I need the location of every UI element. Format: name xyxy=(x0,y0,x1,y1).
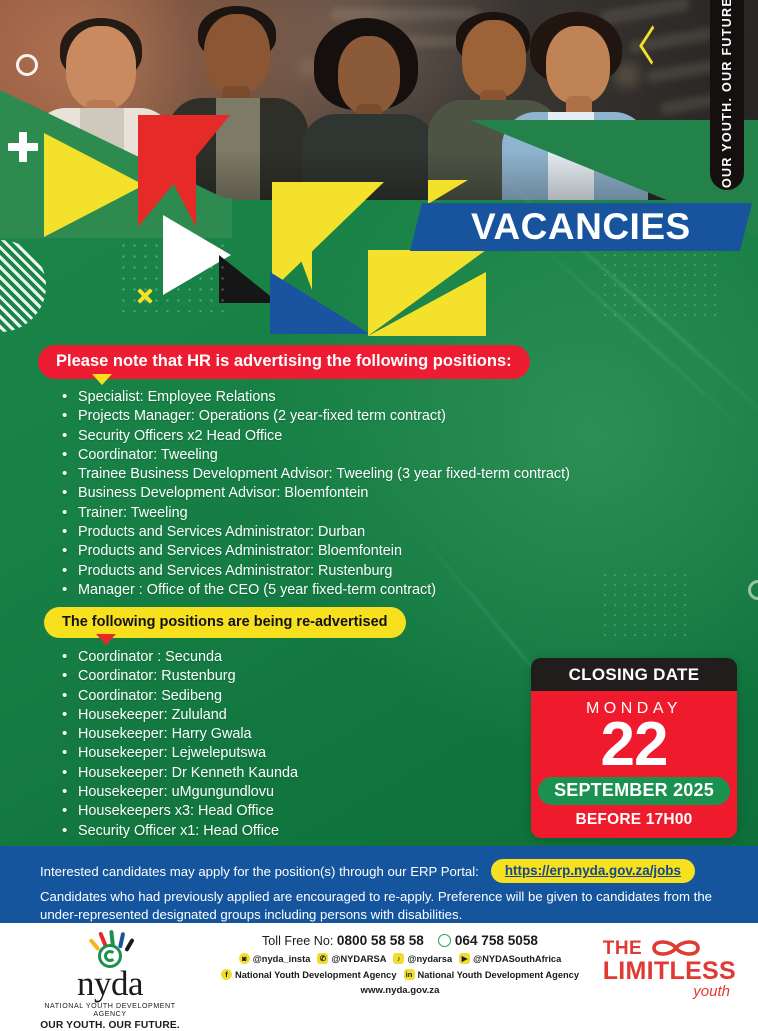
position-list-item: Housekeeper: uMgungundlovu xyxy=(62,783,298,802)
social-row-secondary: fNational Youth Development AgencyinNati… xyxy=(200,969,600,980)
contact-block: Toll Free No: 0800 58 58 58 064 758 5058… xyxy=(200,933,600,996)
toll-free-label: Toll Free No: xyxy=(262,934,333,948)
website-url: www.nyda.gov.za xyxy=(200,985,600,996)
position-list-item: Projects Manager: Operations (2 year-fix… xyxy=(62,407,570,426)
side-tab-label: OUR YOUTH. OUR FUTURE xyxy=(720,0,734,187)
closing-date-time-note: BEFORE 17H00 xyxy=(576,811,693,829)
nyda-logo: nyda NATIONAL YOUTH DEVELOPMENT AGENCY O… xyxy=(34,931,186,1031)
social-link[interactable]: fNational Youth Development Agency xyxy=(221,969,397,980)
vacancies-poster: OUR YOUTH. OUR FUTURE VACANCIES Please n… xyxy=(0,0,758,1031)
position-list-item: Trainer: Tweeling xyxy=(62,504,570,523)
position-list-item: Coordinator : Secunda xyxy=(62,648,298,667)
position-list-item: Housekeeper: Harry Gwala xyxy=(62,725,298,744)
red-triangle-upper-b xyxy=(138,115,196,227)
limitless-line-1: THE xyxy=(603,939,643,958)
readvertised-section-heading-label: The following positions are being re-adv… xyxy=(62,614,388,630)
nyda-logo-tagline: OUR YOUTH. OUR FUTURE. xyxy=(34,1020,186,1031)
youtube-icon: ▶ xyxy=(459,953,470,964)
limitless-youth-logo: THE LIMITLESS youth xyxy=(603,937,736,999)
position-list-item: Trainee Business Development Advisor: Tw… xyxy=(62,465,570,484)
dot-texture-hero xyxy=(118,240,224,312)
apply-band-row-top: Interested candidates may apply for the … xyxy=(40,859,695,883)
position-list-item: Housekeeper: Zululand xyxy=(62,706,298,725)
ring-decoration-right xyxy=(748,580,758,600)
apply-band-note: Candidates who had previously applied ar… xyxy=(40,888,730,923)
social-handle: National Youth Development Agency xyxy=(235,970,397,980)
social-handle: @nydarsa xyxy=(407,954,452,964)
closing-date-header: CLOSING DATE xyxy=(531,658,737,691)
primary-heading-pointer xyxy=(92,374,112,385)
closing-date-card: CLOSING DATE MONDAY 22 SEPTEMBER 2025 BE… xyxy=(531,658,737,838)
yellow-triangle-right-b xyxy=(368,250,486,336)
yellow-triangle-left xyxy=(44,133,144,237)
position-list-item: Products and Services Administrator: Blo… xyxy=(62,542,570,561)
position-list-item: Coordinator: Tweeling xyxy=(62,446,570,465)
social-link[interactable]: ♪@nydarsa xyxy=(393,953,452,964)
closing-date-month-year: SEPTEMBER 2025 xyxy=(538,777,730,805)
position-list-item: Security Officer x1: Head Office xyxy=(62,822,298,841)
whatsapp-icon xyxy=(438,934,451,947)
position-list-item: Housekeepers x3: Head Office xyxy=(62,802,298,821)
position-list-item: Business Development Advisor: Bloemfonte… xyxy=(62,484,570,503)
social-link[interactable]: ▶@NYDASouthAfrica xyxy=(459,953,561,964)
readvertised-positions-list: Coordinator : SecundaCoordinator: Rusten… xyxy=(62,648,298,841)
nyda-logo-mark xyxy=(34,931,186,967)
limitless-line-2: LIMITLESS xyxy=(603,959,736,984)
footer: nyda NATIONAL YOUTH DEVELOPMENT AGENCY O… xyxy=(0,923,758,1031)
apply-band: Interested candidates may apply for the … xyxy=(0,846,758,923)
instagram-icon: ◙ xyxy=(239,953,250,964)
closing-date-body: MONDAY 22 SEPTEMBER 2025 BEFORE 17H00 xyxy=(531,691,737,838)
social-handle: National Youth Development Agency xyxy=(418,970,580,980)
position-list-item: Products and Services Administrator: Rus… xyxy=(62,562,570,581)
social-link[interactable]: ✆@NYDARSA xyxy=(317,953,386,964)
limitless-line-3: youth xyxy=(603,984,736,999)
social-handle: @NYDASouthAfrica xyxy=(473,954,561,964)
vacancies-banner-label: VACANCIES xyxy=(471,206,691,248)
erp-portal-link[interactable]: https://erp.nyda.gov.za/jobs xyxy=(491,859,695,883)
striped-arc-decoration xyxy=(0,240,46,332)
social-row-primary: ◙@nyda_insta✆@NYDARSA♪@nydarsa▶@NYDASout… xyxy=(200,953,600,964)
position-list-item: Coordinator: Sedibeng xyxy=(62,687,298,706)
ring-decoration xyxy=(16,54,38,76)
position-list-item: Housekeeper: Dr Kenneth Kaunda xyxy=(62,764,298,783)
nyda-logo-subtitle: NATIONAL YOUTH DEVELOPMENT AGENCY xyxy=(34,1002,186,1018)
position-list-item: Security Officers x2 Head Office xyxy=(62,427,570,446)
primary-positions-list: Specialist: Employee RelationsProjects M… xyxy=(62,388,570,600)
position-list-item: Coordinator: Rustenburg xyxy=(62,667,298,686)
twitter-icon: ✆ xyxy=(317,953,328,964)
position-list-item: Products and Services Administrator: Dur… xyxy=(62,523,570,542)
whatsapp-number: 064 758 5058 xyxy=(455,933,538,948)
readvertised-heading-pointer xyxy=(96,634,116,645)
closing-date-day-number: 22 xyxy=(601,716,668,774)
toll-free-line: Toll Free No: 0800 58 58 58 xyxy=(262,933,424,948)
x-decoration xyxy=(136,287,154,305)
social-handle: @nyda_insta xyxy=(253,954,311,964)
linkedin-icon: in xyxy=(404,969,415,980)
infinity-icon xyxy=(650,937,702,959)
side-tab: OUR YOUTH. OUR FUTURE xyxy=(710,0,744,190)
plus-decoration xyxy=(8,132,38,162)
dot-texture-lower xyxy=(600,570,686,642)
position-list-item: Housekeeper: Lejweleputswa xyxy=(62,744,298,763)
position-list-item: Manager : Office of the CEO (5 year fixe… xyxy=(62,581,570,600)
toll-free-number: 0800 58 58 58 xyxy=(337,933,424,948)
position-list-item: Specialist: Employee Relations xyxy=(62,388,570,407)
tiktok-icon: ♪ xyxy=(393,953,404,964)
primary-section-heading-label: Please note that HR is advertising the f… xyxy=(56,352,512,371)
yellow-sliver-banner xyxy=(428,180,468,204)
social-link[interactable]: ◙@nyda_insta xyxy=(239,953,311,964)
blue-triangle-center xyxy=(270,272,370,334)
social-handle: @NYDARSA xyxy=(331,954,386,964)
facebook-icon: f xyxy=(221,969,232,980)
nyda-wordmark: nyda xyxy=(34,967,186,1001)
apply-band-intro: Interested candidates may apply for the … xyxy=(40,864,479,879)
vacancies-banner: VACANCIES xyxy=(410,203,752,251)
social-link[interactable]: inNational Youth Development Agency xyxy=(404,969,580,980)
